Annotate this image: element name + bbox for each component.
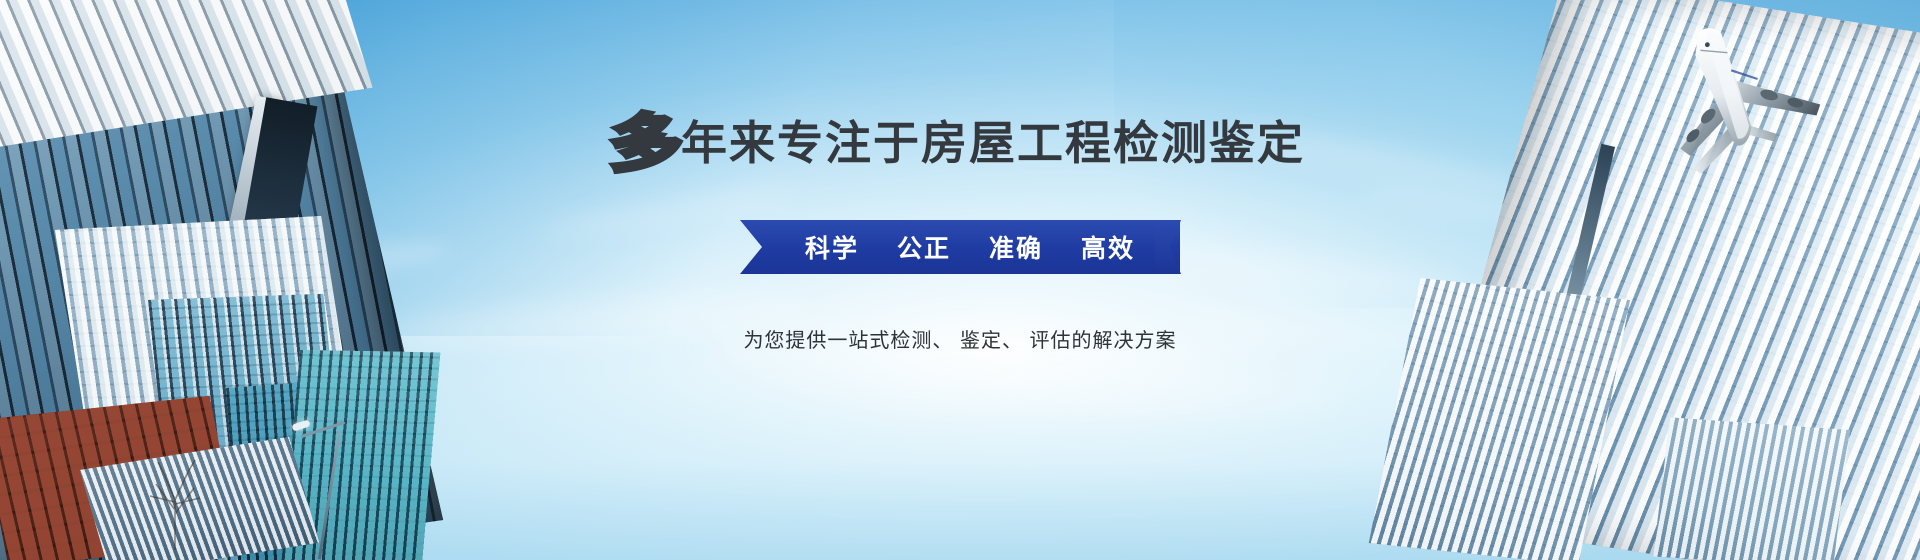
hero-banner: 多 年来专注于房屋工程检测鉴定 科学 公正 准确 高效 为您提供一站式检测、 鉴… [0,0,1920,560]
bare-tree [140,440,210,550]
skyscraper-white-striped-far [1653,417,1850,560]
left-building-cluster [0,0,430,560]
